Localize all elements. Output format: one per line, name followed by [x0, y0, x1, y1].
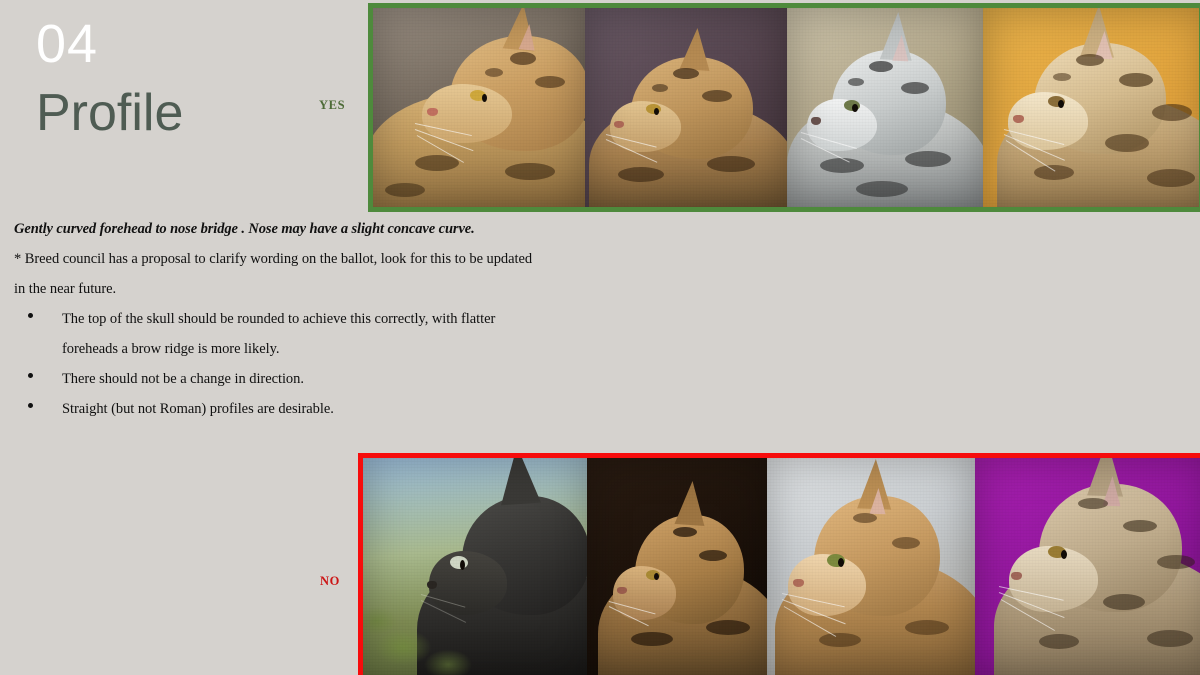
list-item: There should not be a change in directio…	[14, 364, 534, 394]
lead-paragraph: Gently curved forehead to nose bridge . …	[14, 214, 534, 244]
slide-number: 04	[36, 16, 98, 73]
cat-profile-illustration	[775, 471, 975, 675]
list-item-label: The top of the skull should be rounded t…	[62, 311, 495, 357]
photo-correct-2	[585, 8, 787, 207]
photo-incorrect-4	[975, 458, 1200, 675]
cat-profile-illustration	[787, 20, 983, 207]
cat-profile-illustration	[994, 458, 1200, 675]
photo-incorrect-1	[363, 458, 587, 675]
list-item-label: There should not be a change in directio…	[62, 371, 304, 387]
cat-profile-illustration	[598, 484, 767, 675]
gallery-correct-profiles	[368, 3, 1200, 212]
list-item: The top of the skull should be rounded t…	[14, 304, 534, 364]
photo-incorrect-3	[767, 458, 975, 675]
page-title: Profile	[36, 84, 183, 144]
coat-markings	[373, 8, 585, 207]
bullet-icon	[28, 403, 33, 408]
photo-correct-4	[983, 8, 1200, 207]
photo-correct-1	[373, 8, 585, 207]
photo-correct-3	[787, 8, 983, 207]
cat-profile-illustration	[589, 24, 787, 207]
gallery-incorrect-profiles	[358, 453, 1200, 675]
verdict-label-yes: YES	[319, 98, 345, 113]
cat-profile-illustration	[997, 16, 1200, 207]
list-item: Straight (but not Roman) profiles are de…	[14, 394, 534, 424]
cat-profile-illustration	[373, 8, 585, 207]
list-item-label: Straight (but not Roman) profiles are de…	[62, 401, 334, 417]
bullet-icon	[28, 373, 33, 378]
bullet-list: The top of the skull should be rounded t…	[14, 304, 534, 424]
verdict-label-no: NO	[320, 574, 340, 589]
body-copy: Gently curved forehead to nose bridge . …	[14, 214, 534, 424]
photo-incorrect-2	[587, 458, 767, 675]
bullet-icon	[28, 313, 33, 318]
ballot-note: * Breed council has a proposal to clarif…	[14, 244, 534, 304]
